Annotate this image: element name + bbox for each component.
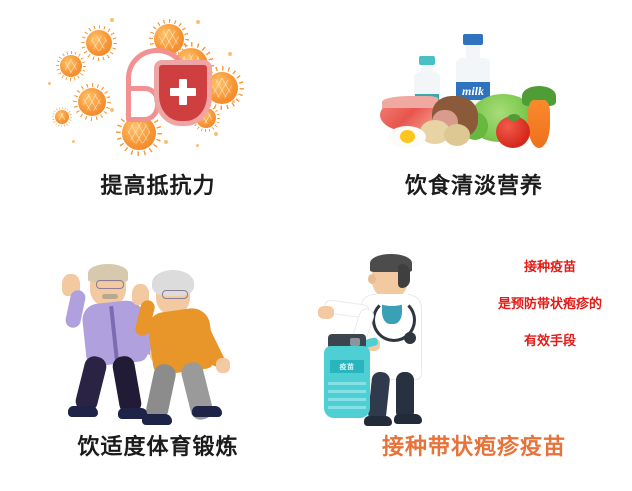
- vial-stripe: [328, 382, 366, 385]
- man-back-leg: [74, 354, 109, 414]
- virus-speck: [196, 144, 199, 147]
- doctor-right-leg: [396, 372, 414, 420]
- virus-speck: [110, 108, 114, 112]
- panel-vaccination: 疫苗 接种疫苗 是预防带状疱疹的 有效手段 接种带状疱疹疫苗: [316, 246, 632, 491]
- fried-egg-yolk: [400, 130, 415, 143]
- yogurt-bottle-cap: [419, 56, 435, 65]
- woman-back-shoe: [142, 414, 172, 425]
- woman-glasses: [162, 290, 188, 299]
- virus-speck: [232, 100, 235, 103]
- carrot: [528, 100, 550, 148]
- virus-speck: [72, 140, 75, 143]
- panel-caption-immunity: 提高抵抗力: [0, 168, 316, 200]
- doctor-ear: [368, 274, 376, 284]
- man-back-shoe: [68, 406, 98, 417]
- shield-icon: [154, 60, 212, 126]
- health-infographic-poster: 提高抵抗力 milk: [0, 0, 632, 491]
- vial-label: 疫苗: [330, 360, 364, 373]
- panel-exercise: 饮适度体育锻炼: [0, 246, 316, 491]
- man-glasses: [96, 280, 124, 289]
- potato: [444, 124, 470, 146]
- virus-speck: [228, 52, 232, 56]
- milk-bottle-cap: [463, 34, 483, 45]
- woman-front-shoe: [192, 406, 222, 417]
- doctor-right-shoe: [394, 414, 422, 424]
- vial-stripe: [328, 406, 366, 409]
- message-line-2: 是预防带状疱疹的: [468, 297, 632, 310]
- cross-horizontal: [170, 88, 196, 96]
- message-line-3: 有效手段: [468, 334, 632, 347]
- man-mustache: [102, 294, 118, 299]
- virus-speck: [164, 140, 168, 144]
- vial-stripe: [328, 390, 366, 393]
- vial-cap-highlight: [350, 338, 360, 346]
- virus-particle: [55, 110, 69, 124]
- message-line-1: 接种疫苗: [468, 260, 632, 273]
- doctor-left-shoe: [364, 416, 392, 426]
- panel-immunity: 提高抵抗力: [0, 0, 316, 245]
- virus-speck: [48, 82, 51, 85]
- milk-bottle-neck: [466, 42, 480, 62]
- vaccine-vial: 疫苗: [324, 346, 370, 418]
- virus-particle: [78, 88, 106, 116]
- virus-speck: [110, 18, 114, 22]
- shield-virus-icon: [0, 0, 316, 175]
- virus-speck: [196, 20, 200, 24]
- stethoscope-chestpiece: [404, 332, 416, 344]
- panel-nutrition: milk 饮食清淡营养: [316, 0, 632, 245]
- virus-particle: [60, 55, 82, 77]
- woman-right-hand: [216, 358, 230, 373]
- tomato-stem: [508, 114, 520, 121]
- balanced-food-icon: milk: [316, 0, 632, 175]
- virus-speck: [214, 132, 218, 136]
- panel-caption-exercise: 饮适度体育锻炼: [0, 429, 316, 461]
- panel-caption-vaccination: 接种带状疱疹疫苗: [316, 429, 632, 461]
- doctor-sideburn: [398, 264, 410, 288]
- virus-particle: [86, 30, 112, 56]
- doctor-left-hand: [318, 306, 334, 319]
- salmon-skin: [382, 96, 438, 108]
- elderly-exercise-icon: [0, 246, 316, 431]
- woman-back-leg: [144, 362, 177, 421]
- vial-stripe: [328, 398, 366, 401]
- vaccination-message: 接种疫苗 是预防带状疱疹的 有效手段: [468, 260, 632, 371]
- doctor-vaccine-icon: 疫苗 接种疫苗 是预防带状疱疹的 有效手段: [316, 246, 632, 431]
- man-front-leg: [111, 355, 143, 416]
- panel-caption-nutrition: 饮食清淡营养: [316, 168, 632, 200]
